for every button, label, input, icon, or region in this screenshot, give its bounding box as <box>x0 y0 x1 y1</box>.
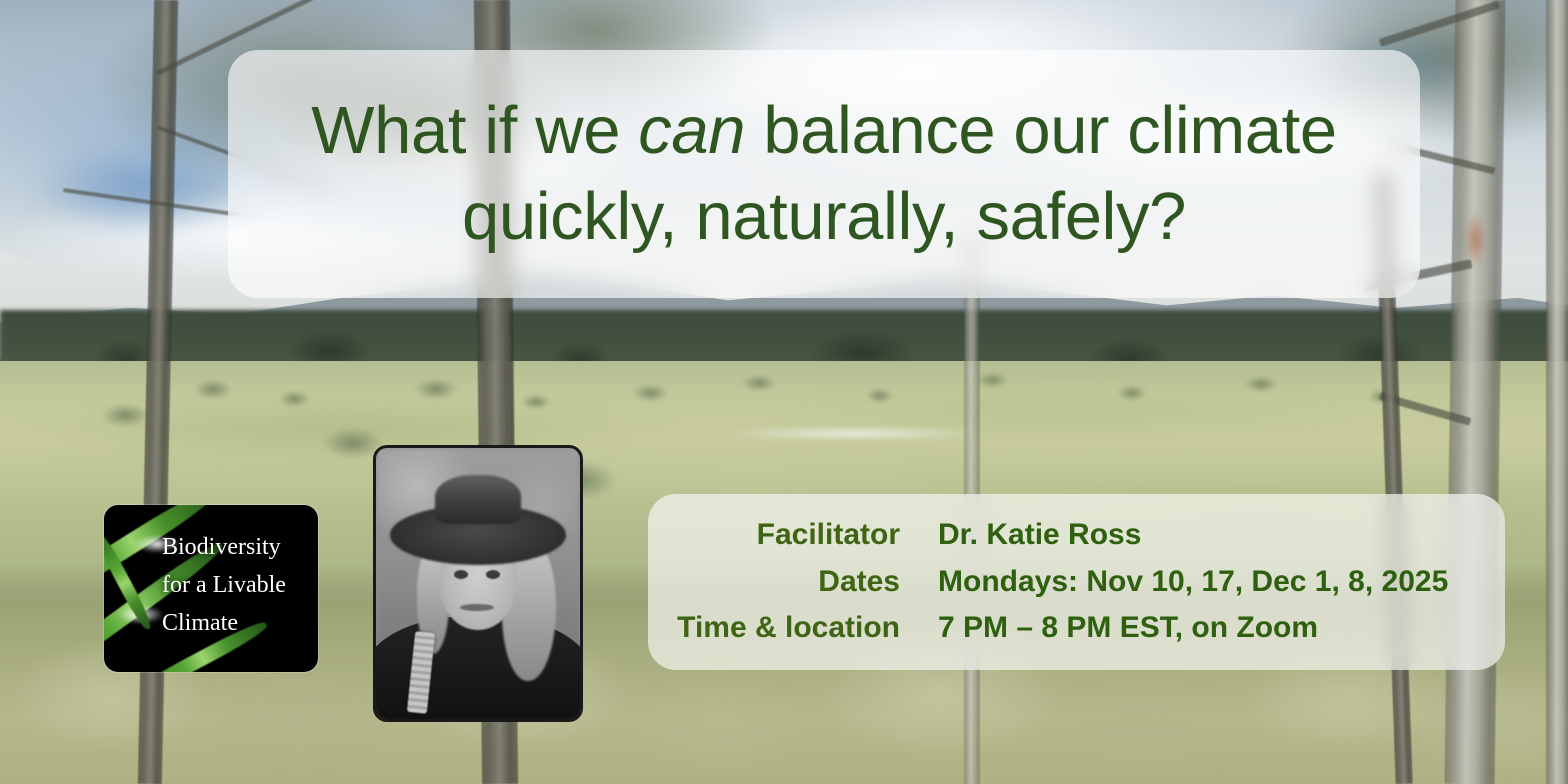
organization-logo[interactable]: Biodiversity for a Livable Climate <box>104 505 318 672</box>
event-details-grid: Facilitator Dr. Katie Ross Dates Mondays… <box>648 514 1505 650</box>
paddock-tree <box>408 375 464 403</box>
logo-line-3: Climate <box>162 605 310 643</box>
title-part-pre: What if we <box>311 93 638 168</box>
detail-value-dates: Mondays: Nov 10, 17, Dec 1, 8, 2025 <box>938 561 1505 604</box>
water-glint <box>721 427 988 440</box>
paddock-tree <box>274 388 315 410</box>
logo-line-2: for a Livable <box>162 567 310 605</box>
logo-line-1: Biodiversity <box>162 529 310 567</box>
paddock-tree <box>188 376 238 403</box>
title-line-2: quickly, naturally, safely? <box>462 179 1186 254</box>
portrait-hat-crown <box>435 475 521 524</box>
title-part-post: balance our climate <box>745 93 1337 168</box>
detail-label-time-location: Time & location <box>648 607 900 650</box>
paddock-tree <box>1239 373 1283 395</box>
paddock-tree <box>862 386 896 405</box>
tree-trunk <box>1546 0 1568 784</box>
detail-value-time-location: 7 PM – 8 PM EST, on Zoom <box>938 607 1505 650</box>
logo-wordmark: Biodiversity for a Livable Climate <box>162 529 310 643</box>
portrait-eye-left <box>454 570 468 579</box>
title-line-1: What if we can balance our climate <box>311 93 1336 168</box>
paddock-tree <box>1113 383 1151 403</box>
event-details-panel: Facilitator Dr. Katie Ross Dates Mondays… <box>648 494 1505 670</box>
title-emphasis: can <box>638 93 745 168</box>
facilitator-portrait <box>373 445 583 722</box>
detail-label-facilitator: Facilitator <box>648 514 900 557</box>
detail-label-dates: Dates <box>648 561 900 604</box>
paddock-tree <box>627 381 674 405</box>
event-slide: What if we can balance our climate quick… <box>0 0 1568 784</box>
bark-scar <box>1465 212 1487 267</box>
detail-value-facilitator: Dr. Katie Ross <box>938 514 1505 557</box>
paddock-tree <box>737 372 781 394</box>
title-panel: What if we can balance our climate quick… <box>228 50 1420 298</box>
portrait-mouth <box>460 604 495 611</box>
page-title: What if we can balance our climate quick… <box>228 88 1420 260</box>
